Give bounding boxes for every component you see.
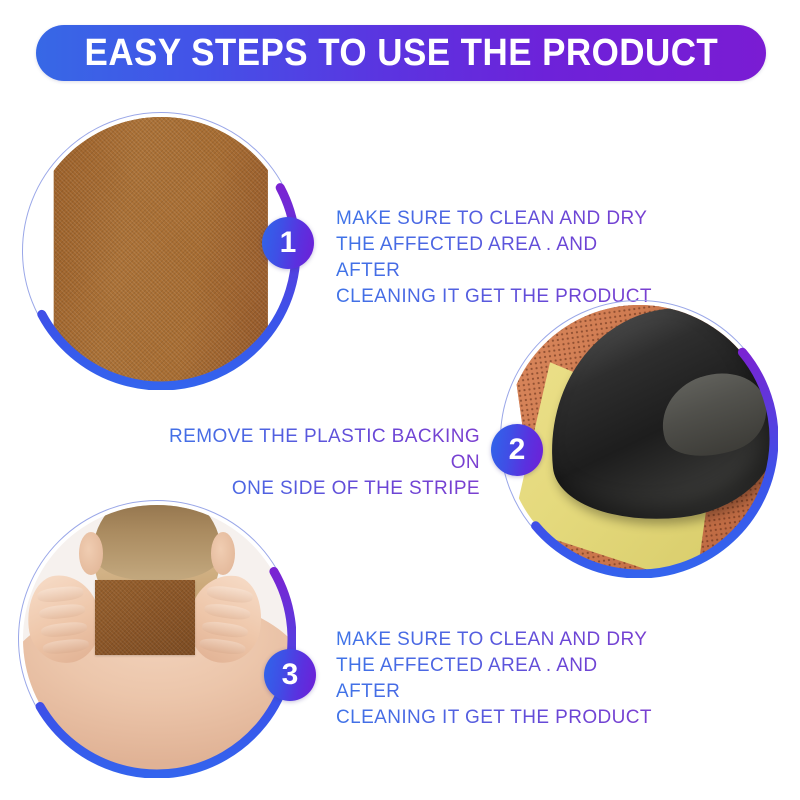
step-2-photo bbox=[505, 305, 773, 573]
finger bbox=[42, 637, 89, 655]
step-1-number-badge: 1 bbox=[262, 217, 314, 269]
infographic-canvas: EASY STEPS TO USE THE PRODUCT 1 MAKE SUR… bbox=[0, 0, 800, 800]
step-3-number-badge: 3 bbox=[264, 649, 316, 701]
finger bbox=[40, 620, 87, 638]
finger bbox=[199, 636, 247, 656]
step-2-image-circle bbox=[500, 300, 778, 578]
step-2-number-badge: 2 bbox=[491, 424, 543, 476]
step-3-photo bbox=[23, 505, 291, 773]
left-ear bbox=[79, 532, 103, 575]
step-1-number: 1 bbox=[280, 228, 297, 258]
step-3-image-circle bbox=[18, 500, 296, 778]
finger bbox=[204, 602, 252, 622]
hair bbox=[93, 505, 222, 580]
finger bbox=[39, 603, 86, 621]
page-title: EASY STEPS TO USE THE PRODUCT bbox=[84, 34, 718, 72]
finger bbox=[206, 584, 254, 604]
finger bbox=[37, 585, 84, 603]
step-1-description: MAKE SURE TO CLEAN AND DRY THE AFFECTED … bbox=[336, 206, 656, 310]
applied-patch bbox=[95, 580, 194, 655]
right-ear bbox=[211, 532, 235, 575]
fabric-texture-image bbox=[54, 117, 268, 385]
finger bbox=[202, 619, 250, 639]
step-1-photo bbox=[27, 117, 295, 385]
step-3-description: MAKE SURE TO CLEAN AND DRY THE AFFECTED … bbox=[336, 627, 656, 731]
step-1-image-circle bbox=[22, 112, 300, 390]
peel-backing-image bbox=[505, 305, 773, 573]
step-2-number: 2 bbox=[509, 435, 526, 465]
step-2-description: REMOVE THE PLASTIC BACKING ON ONE SIDE O… bbox=[140, 424, 480, 502]
step-3-number: 3 bbox=[282, 660, 299, 690]
header-banner: EASY STEPS TO USE THE PRODUCT bbox=[36, 25, 766, 81]
neck-application-image bbox=[23, 505, 291, 773]
